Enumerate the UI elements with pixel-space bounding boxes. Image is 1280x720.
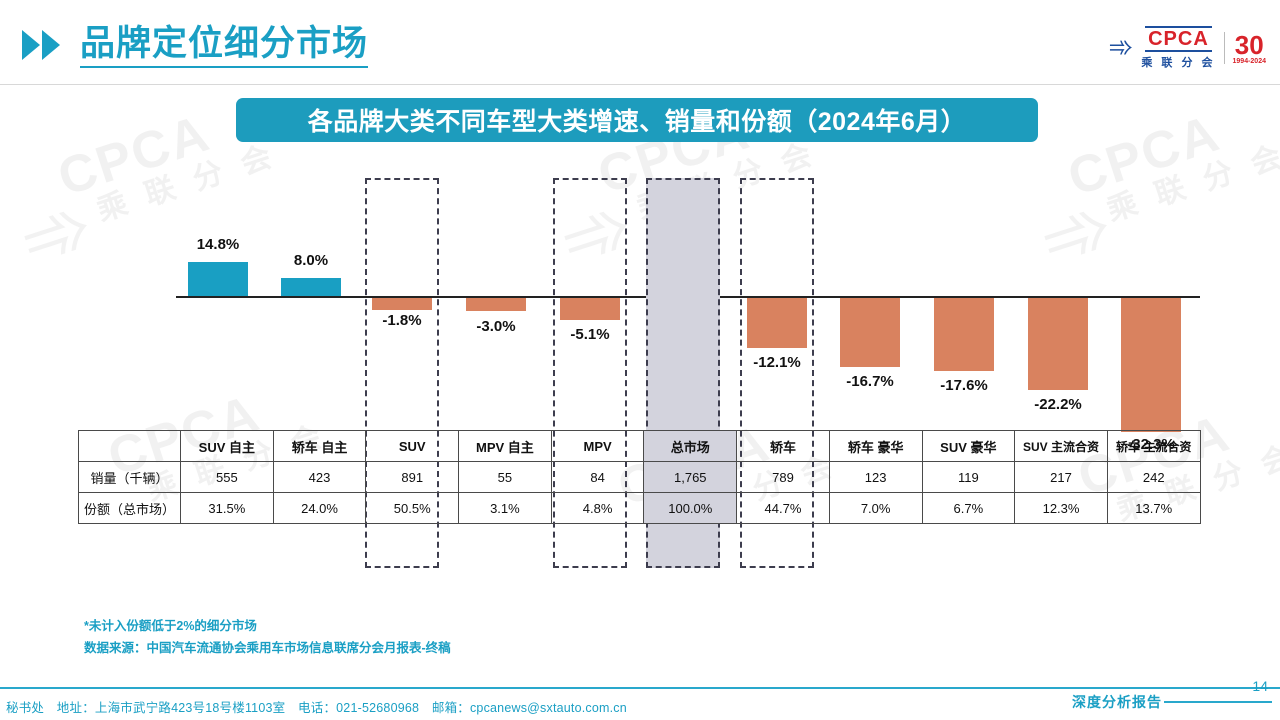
table-corner-cell [79,431,181,462]
logo-name: CPCA [1145,26,1212,52]
col-header-mpv: MPV [551,431,644,462]
cell-sales-suv-mainstream-jv: 217 [1015,462,1108,493]
page-title: 品牌定位细分市场 [80,24,368,68]
slide-root: CPCA乘 联 分 会 ➾ CPCA乘 联 分 会 ➾ CPCA乘 联 分 会 … [0,0,1280,720]
anniversary-badge: 30 [1235,32,1264,58]
bar-value-label: 8.0% [256,252,366,269]
bar-value-label: -22.2% [1003,396,1113,413]
cell-share-suv-zizhu: 31.5% [181,493,274,524]
logo-divider [1224,32,1225,64]
cell-share-suv-mainstream-jv: 12.3% [1015,493,1108,524]
bar-value-label: 14.8% [163,236,273,253]
footer-brand-rule [1164,701,1272,703]
double-chevron-right-icon [22,30,60,60]
col-header-suv: SUV [366,431,459,462]
cell-sales-total-market: 1,765 [644,462,737,493]
col-header-suv-luxury: SUV 豪华 [922,431,1015,462]
col-header-sedan-zizhu: 轿车 自主 [273,431,366,462]
data-table: SUV 自主 轿车 自主 SUV MPV 自主 MPV 总市场 轿车 轿车 豪华… [78,430,1201,524]
cell-sales-suv: 891 [366,462,459,493]
row-label-sales: 销量（千辆） [79,462,181,493]
col-header-suv-mainstream-jv: SUV 主流合资 [1015,431,1108,462]
col-header-total-market: 总市场 [644,431,737,462]
footer-divider [0,687,1280,689]
col-header-sedan-mainstream-jv: 轿车 主流合资 [1107,431,1200,462]
cell-share-sedan-mainstream-jv: 13.7% [1107,493,1200,524]
bar-value-label: -17.6% [909,377,1019,394]
header-divider [0,84,1280,85]
cell-sales-sedan: 789 [737,462,830,493]
table-header-row: SUV 自主 轿车 自主 SUV MPV 自主 MPV 总市场 轿车 轿车 豪华… [79,431,1201,462]
row-label-share: 份额（总市场） [79,493,181,524]
col-header-suv-zizhu: SUV 自主 [181,431,274,462]
cell-sales-sedan-mainstream-jv: 242 [1107,462,1200,493]
footer-brand: 深度分析报告 [1072,692,1162,712]
footnote-line-2: 数据来源：中国汽车流通协会乘用车市场信息联席分会月报表-终稿 [84,638,451,660]
footnotes: *未计入份额低于2%的细分市场 数据来源：中国汽车流通协会乘用车市场信息联席分会… [84,616,451,660]
cell-share-suv-luxury: 6.7% [922,493,1015,524]
cpca-logo: ➾ CPCA 乘 联 分 会 30 1994-2024 [1108,26,1266,70]
page-number: 14 [1252,678,1268,694]
col-header-sedan: 轿车 [737,431,830,462]
cell-sales-suv-zizhu: 555 [181,462,274,493]
cell-share-sedan-zizhu: 24.0% [273,493,366,524]
cell-sales-sedan-zizhu: 423 [273,462,366,493]
table-row: 份额（总市场） 31.5% 24.0% 50.5% 3.1% 4.8% 100.… [79,493,1201,524]
chart-title-banner: 各品牌大类不同车型大类增速、销量和份额（2024年6月） [236,98,1038,142]
table-row: 销量（千辆） 555 423 891 55 84 1,765 789 123 1… [79,462,1201,493]
cell-sales-sedan-luxury: 123 [829,462,922,493]
cell-share-suv: 50.5% [366,493,459,524]
cell-share-sedan: 44.7% [737,493,830,524]
logo-subtitle: 乘 联 分 会 [1141,54,1215,70]
cell-sales-mpv: 84 [551,462,644,493]
col-header-sedan-luxury: 轿车 豪华 [829,431,922,462]
bar-chart: 14.8% 8.0% -1.8% -3.0% -5.1% -6.8% -12.1… [78,168,1200,430]
cell-share-mpv: 4.8% [551,493,644,524]
cell-sales-mpv-zizhu: 55 [459,462,552,493]
col-header-mpv-zizhu: MPV 自主 [459,431,552,462]
cell-sales-suv-luxury: 119 [922,462,1015,493]
footer-contact: 秘书处 地址：上海市武宁路423号18号楼1103室 电话：021-526809… [6,697,627,716]
cpca-swirl-icon: ➾ [1108,33,1133,63]
anniversary-years: 1994-2024 [1233,58,1266,65]
cell-share-total-market: 100.0% [644,493,737,524]
footnote-line-1: *未计入份额低于2%的细分市场 [84,616,451,638]
cell-share-mpv-zizhu: 3.1% [459,493,552,524]
cell-share-sedan-luxury: 7.0% [829,493,922,524]
